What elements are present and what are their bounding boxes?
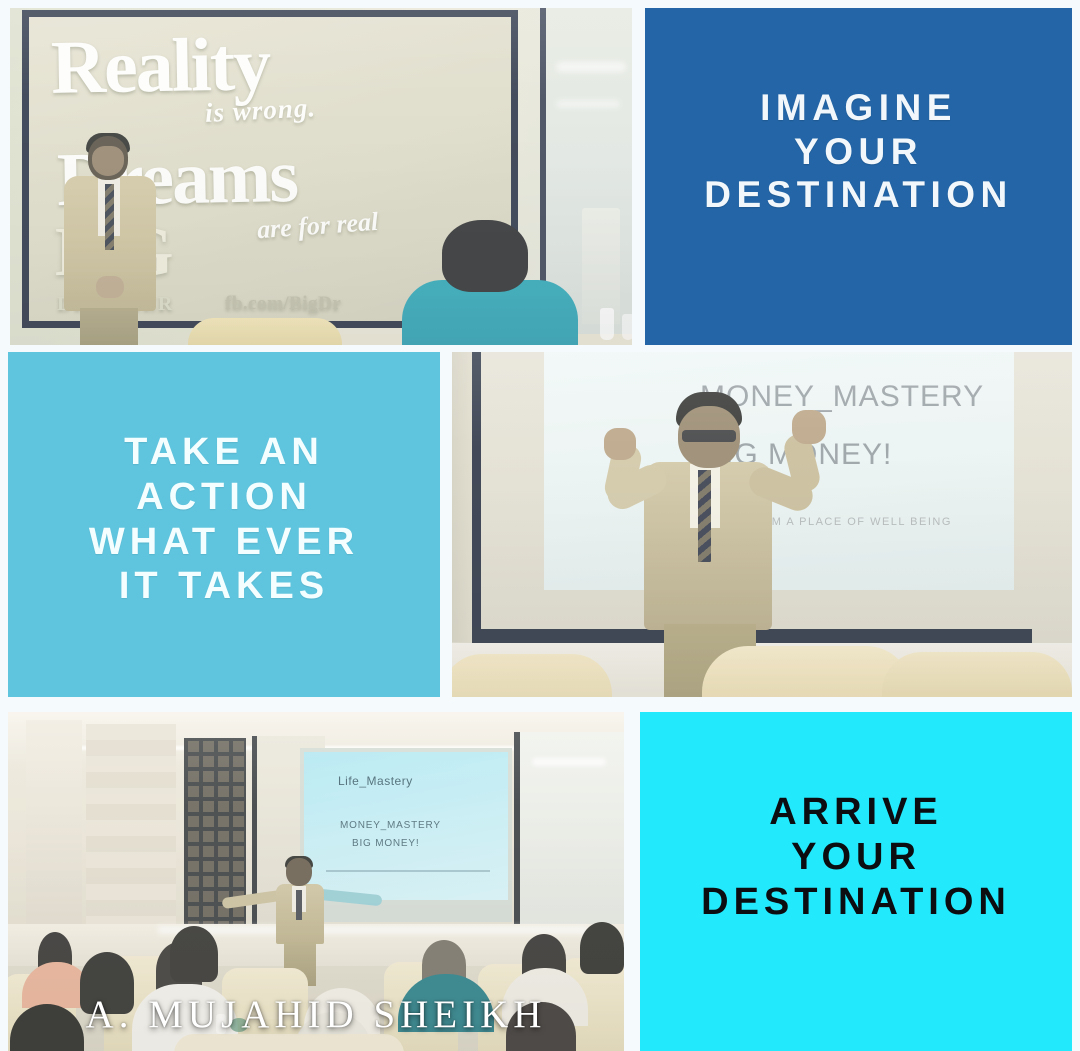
presenter-head [286,858,312,886]
wall-pillar [582,208,620,324]
quote-line-1: IMAGINE [704,86,1013,130]
attendee-figure [396,220,582,345]
audience-member [580,922,624,974]
slide-title: Life_Mastery [338,774,413,788]
quote-line-2: YOUR [701,835,1011,880]
quote-line-4: IT TAKES [89,564,359,609]
photo-collage: Reality is wrong. Dreams BiG are for rea… [0,0,1080,1051]
presenter-name-overlay: A. MUJAHID SHEIKH [8,992,624,1037]
speaker-right-hand [792,410,826,444]
slide-subline: is wrong. [204,92,317,129]
chair-cover [702,646,912,697]
window-glare-secondary [556,100,620,108]
chair-cover [188,318,342,345]
wall-edge [452,352,474,642]
slide-footer-link: fb.com/BigDr [225,293,341,315]
presenter-figure [226,858,376,970]
presenter-tie [296,890,302,920]
speaker-face [92,146,124,176]
presenter-right-arm [318,889,383,907]
quote-line-1: ARRIVE [701,790,1011,835]
quote-line-1: TAKE AN [89,430,359,475]
quote-line-3: DESTINATION [704,173,1013,217]
speaker-left-hand [604,428,636,460]
speaker-glasses [682,430,736,442]
quote-text-block: IMAGINE YOUR DESTINATION [704,8,1013,217]
audience-member [170,926,218,982]
photo-money-mastery[interactable]: MONEY_MASTERY BIG MONEY! FROM A PLACE OF… [452,352,1072,697]
chair-cover [882,652,1072,697]
quote-line-3: WHAT EVER [89,520,359,565]
quote-panel-imagine[interactable]: IMAGINE YOUR DESTINATION [645,8,1072,345]
quote-text-block: ARRIVE YOUR DESTINATION [701,712,1011,924]
stone-wall-panel [86,724,176,936]
presenter-left-arm [222,890,283,909]
photo-reality-dreams[interactable]: Reality is wrong. Dreams BiG are for rea… [10,8,632,345]
attendee-head [442,220,528,292]
quote-text-block: TAKE AN ACTION WHAT EVER IT TAKES [89,352,359,609]
window-glare [532,758,606,766]
speaker-tie [698,470,711,562]
quote-line-2: ACTION [89,475,359,520]
speaker-tie [105,184,114,250]
photo-seminar-room[interactable]: Life_Mastery MONEY_MASTERY BIG MONEY! [8,712,624,1051]
chair-cover [452,654,612,697]
window-glare [556,62,626,72]
water-glass-secondary [622,314,632,340]
slide-line-2: BIG MONEY! [352,838,419,849]
quote-line-2: YOUR [704,130,1013,174]
water-glass [600,308,614,340]
quote-line-3: DESTINATION [701,880,1011,925]
speaker-legs [80,308,138,345]
wall-column [26,720,82,935]
speaker-hands [96,276,124,298]
quote-panel-arrive[interactable]: ARRIVE YOUR DESTINATION [640,712,1072,1051]
slide-line-1: MONEY_MASTERY [340,820,441,831]
speaker-figure [62,136,158,345]
quote-panel-action[interactable]: TAKE AN ACTION WHAT EVER IT TAKES [8,352,440,697]
